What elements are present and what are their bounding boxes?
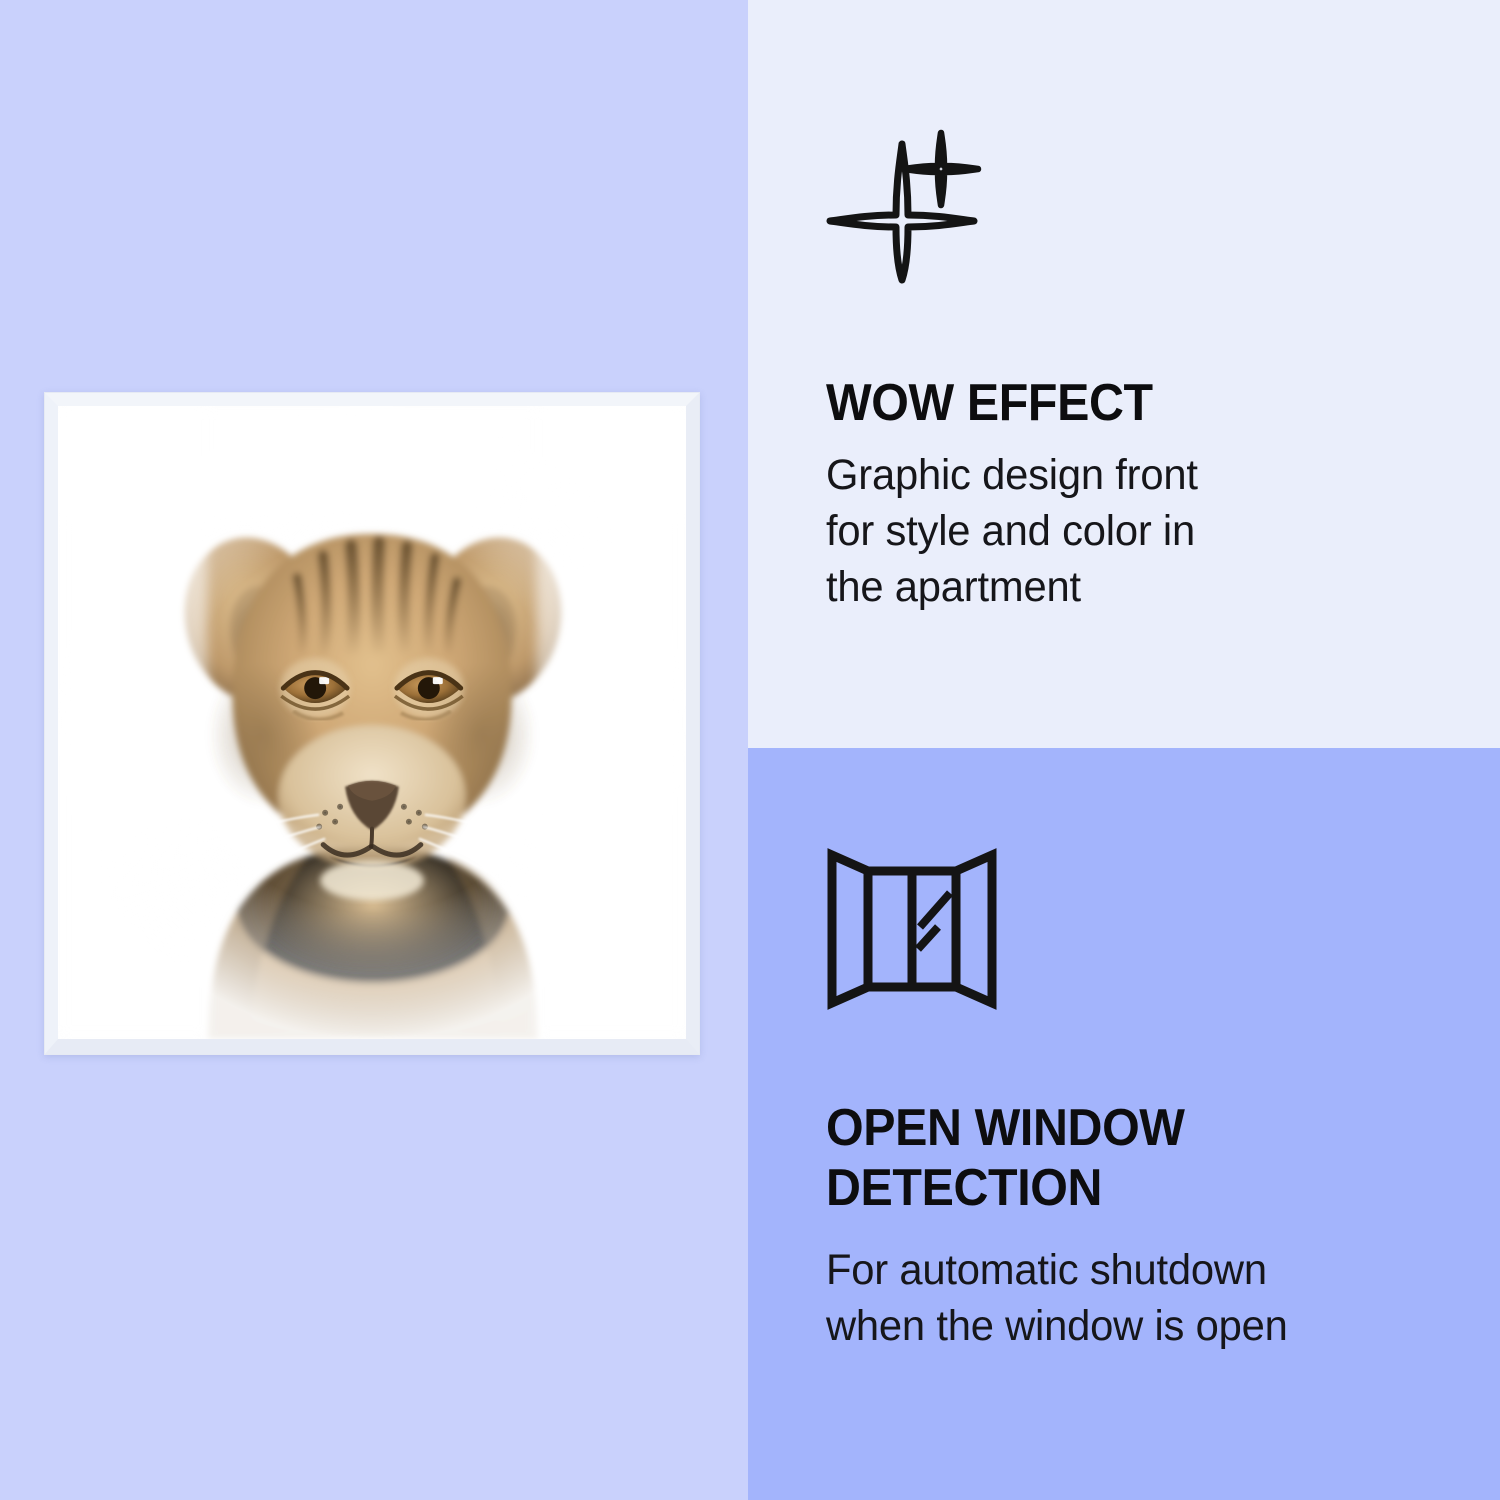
feature-block-open-window-detection: OPEN WINDOW DETECTION For automatic shut… bbox=[826, 853, 1460, 1354]
feature-title: WOW EFFECT bbox=[826, 373, 1416, 433]
artwork-image bbox=[58, 406, 686, 1039]
sparkle-icon bbox=[826, 130, 996, 295]
feature-panel-wow-effect: WOW EFFECT Graphic design front for styl… bbox=[748, 0, 1500, 748]
lion-cub-photo bbox=[58, 406, 686, 1039]
feature-description: Graphic design front for style and color… bbox=[826, 447, 1441, 615]
product-infographic: WOW EFFECT Graphic design front for styl… bbox=[0, 0, 1500, 1500]
feature-title: OPEN WINDOW DETECTION bbox=[826, 1098, 1416, 1218]
feature-block-wow-effect: WOW EFFECT Graphic design front for styl… bbox=[826, 130, 1460, 615]
feature-description: For automatic shutdown when the window i… bbox=[826, 1242, 1441, 1354]
open-window-icon bbox=[826, 853, 996, 1018]
feature-panel-open-window-detection: OPEN WINDOW DETECTION For automatic shut… bbox=[748, 748, 1500, 1500]
framed-artwork bbox=[44, 392, 700, 1055]
